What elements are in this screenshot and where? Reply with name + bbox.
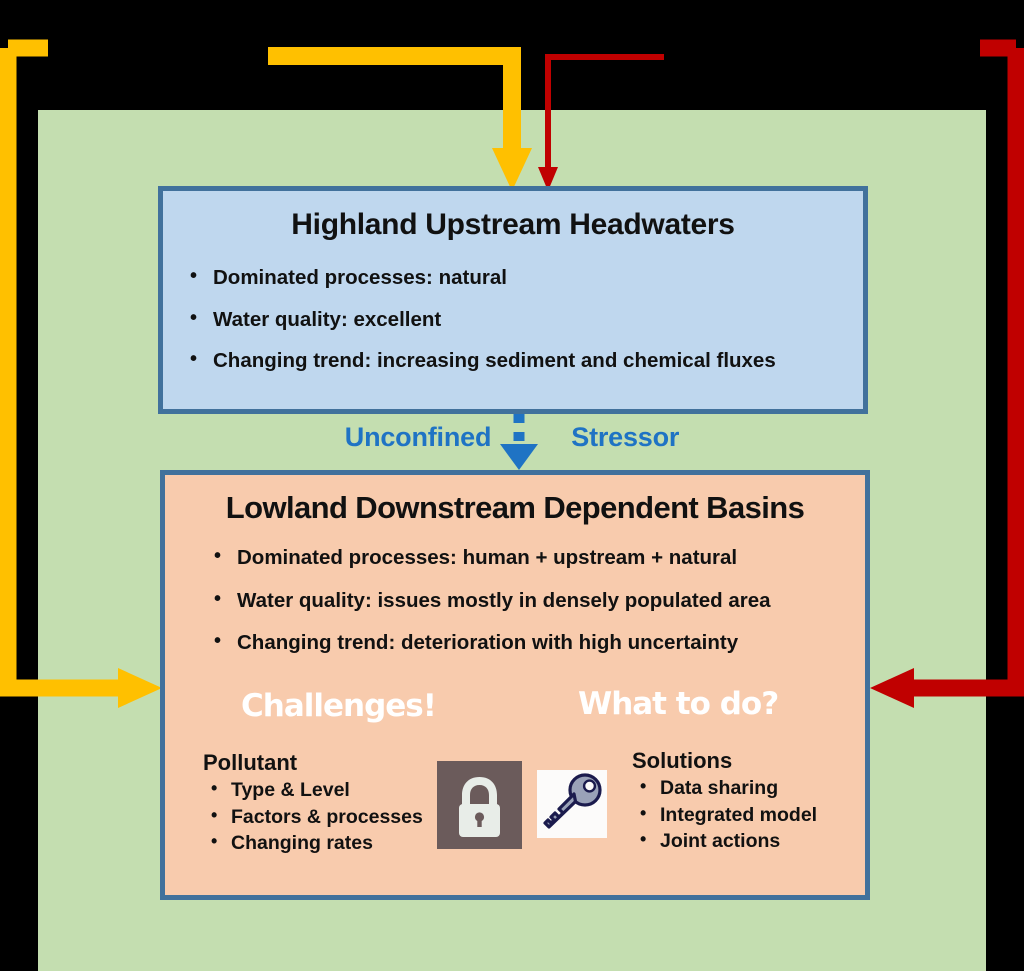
stressor-label-right: Stressor [571, 422, 679, 452]
pollutant-title: Pollutant [203, 750, 423, 775]
solutions-item: Integrated model [632, 802, 817, 829]
upstream-box: Highland Upstream Headwaters Dominated p… [158, 186, 868, 414]
key-icon [537, 770, 607, 838]
stressor-label-left: Unconfined [345, 422, 492, 452]
downstream-title: Lowland Downstream Dependent Basins [165, 490, 865, 526]
solutions-item: Joint actions [632, 828, 817, 855]
pollutant-item: Changing rates [203, 830, 423, 857]
downstream-bullet-list: Dominated processes: human + upstream + … [207, 548, 865, 654]
challenges-heading: Challenges! [241, 688, 436, 724]
pollutant-item: Factors & processes [203, 804, 423, 831]
lock-icon [437, 761, 522, 849]
solutions-column: Solutions Data sharing Integrated model … [632, 748, 817, 855]
upstream-bullet: Dominated processes: natural [183, 268, 863, 289]
downstream-bullet: Water quality: issues mostly in densely … [207, 591, 865, 612]
upstream-bullet: Water quality: excellent [183, 310, 863, 331]
what-to-do-heading: What to do? [578, 686, 778, 722]
pollutant-list: Type & Level Factors & processes Changin… [203, 777, 423, 857]
downstream-bullet: Changing trend: deterioration with high … [207, 633, 865, 654]
diagram-canvas: Highland Upstream Headwaters Dominated p… [0, 0, 1024, 971]
upstream-bullet: Changing trend: increasing sediment and … [183, 351, 863, 372]
upstream-title: Highland Upstream Headwaters [163, 208, 863, 242]
stressor-label: UnconfinedStressor [0, 422, 1024, 453]
pollutant-column: Pollutant Type & Level Factors & process… [203, 750, 423, 857]
upstream-bullet-list: Dominated processes: natural Water quali… [183, 268, 863, 372]
pollutant-item: Type & Level [203, 777, 423, 804]
lock-icon-tile [437, 761, 522, 849]
solutions-list: Data sharing Integrated model Joint acti… [632, 775, 817, 855]
solutions-item: Data sharing [632, 775, 817, 802]
key-icon-tile [537, 770, 607, 838]
downstream-bullet: Dominated processes: human + upstream + … [207, 548, 865, 569]
solutions-title: Solutions [632, 748, 817, 773]
